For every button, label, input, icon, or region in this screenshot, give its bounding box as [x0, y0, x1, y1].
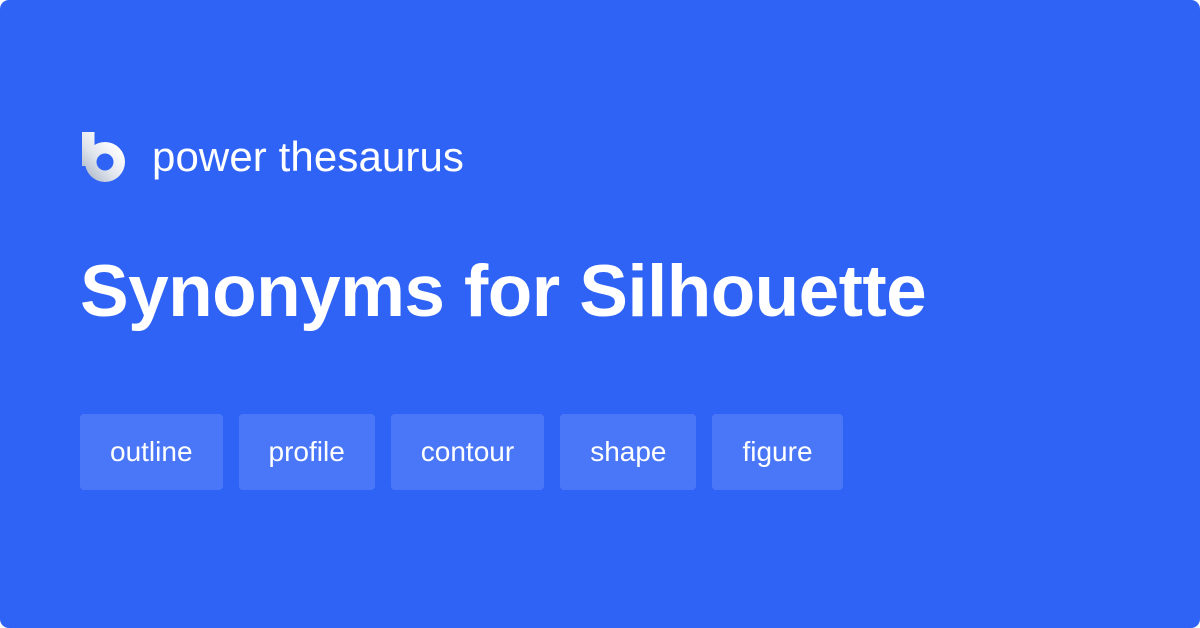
- brand-header[interactable]: power thesaurus: [80, 128, 464, 186]
- og-preview-card: power thesaurus Synonyms for Silhouette …: [0, 0, 1200, 628]
- synonym-chip-list: outline profile contour shape figure: [80, 414, 1120, 490]
- power-thesaurus-logo-icon: [80, 132, 125, 182]
- page-title: Synonyms for Silhouette: [80, 248, 1130, 336]
- synonym-chip[interactable]: profile: [239, 414, 375, 490]
- synonym-chip[interactable]: figure: [712, 414, 842, 490]
- brand-name: power thesaurus: [152, 132, 464, 182]
- synonym-chip[interactable]: contour: [391, 414, 544, 490]
- synonym-chip[interactable]: shape: [560, 414, 696, 490]
- synonym-chip[interactable]: outline: [80, 414, 223, 490]
